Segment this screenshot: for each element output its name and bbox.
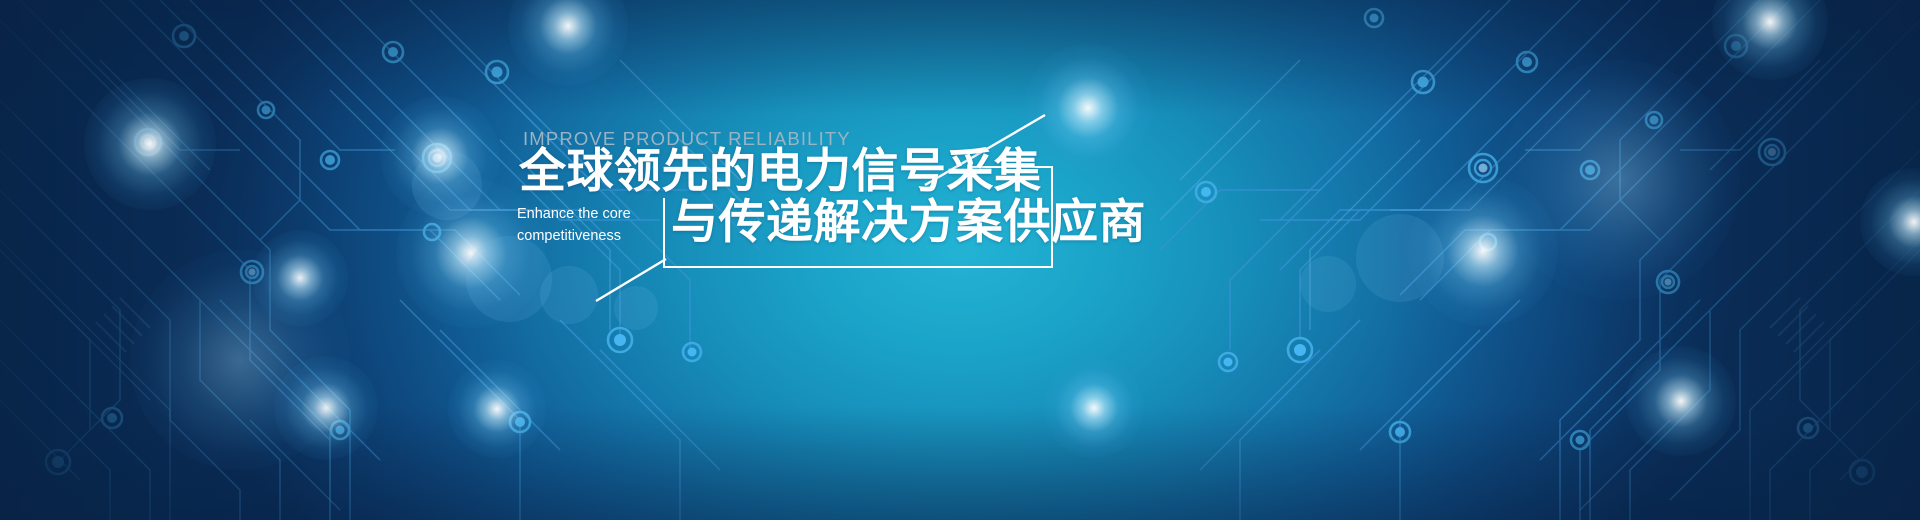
banner-headline-line2: 与传递解决方案供应商 — [671, 199, 1146, 248]
banner-content: IMPROVE PRODUCT RELIABILITY 全球领先的电力信号采集 … — [0, 0, 1920, 520]
banner-headline-line1: 全球领先的电力信号采集 — [519, 148, 1042, 197]
banner-subtitle: Enhance the core competitiveness — [517, 203, 649, 248]
hero-banner: IMPROVE PRODUCT RELIABILITY 全球领先的电力信号采集 … — [0, 0, 1920, 520]
